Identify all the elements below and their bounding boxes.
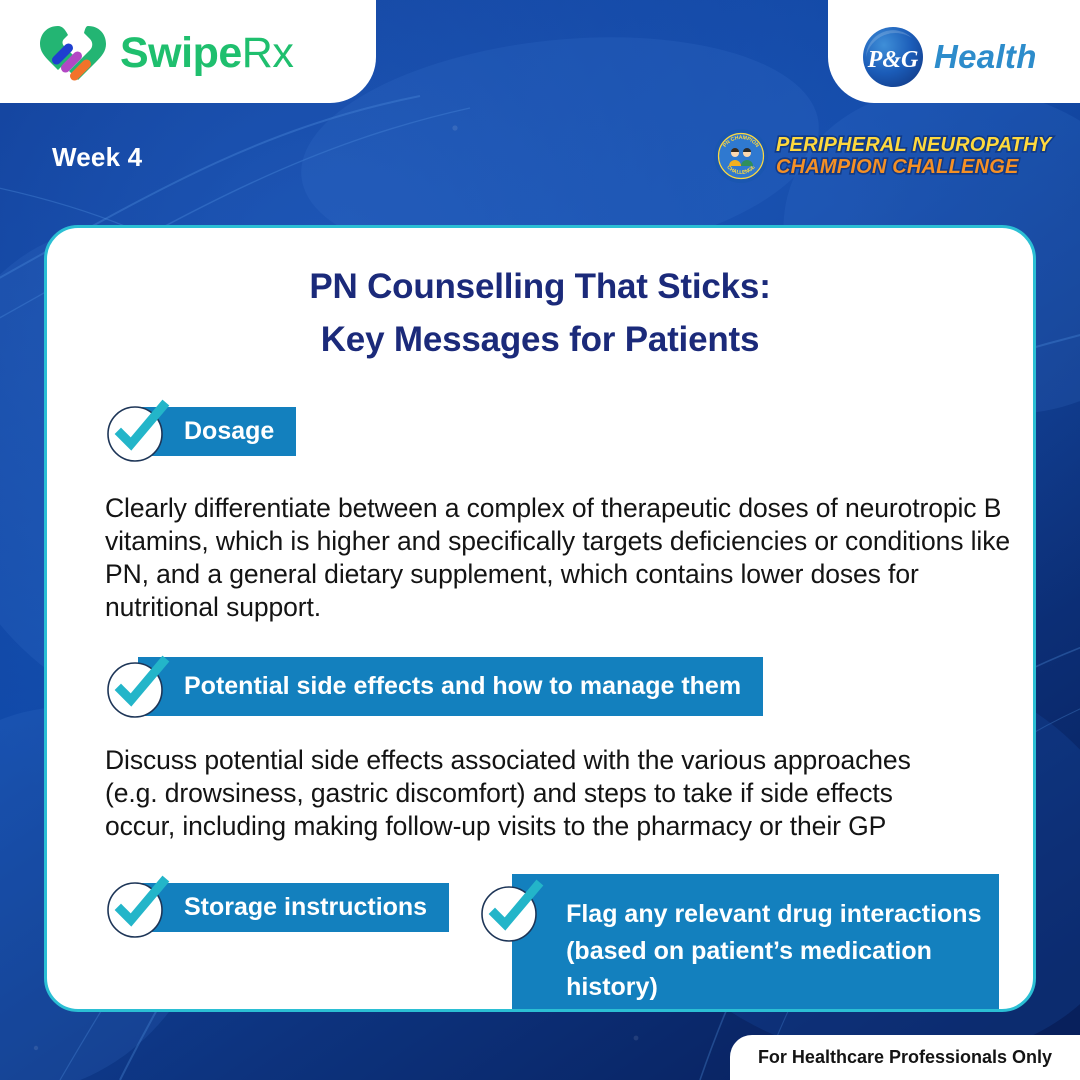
badge-side-effects-bar: Potential side effects and how to manage…	[138, 657, 763, 716]
page-title-line-2: Key Messages for Patients	[47, 313, 1033, 366]
badge-side-effects: Potential side effects and how to manage…	[105, 654, 1033, 720]
pg-circle-icon: P&G	[862, 26, 924, 88]
pg-health-logo[interactable]: P&G Health	[862, 26, 1037, 88]
header: SwipeRx P&G Health	[0, 0, 1080, 103]
pn-champion-challenge-badge-icon: PN CHAMPION CHALLENGE	[713, 128, 769, 184]
challenge-lockup: PN CHAMPION CHALLENGE PERIPHERAL NEUROPA…	[713, 128, 1051, 184]
swiperx-name-part1: Swipe	[120, 29, 242, 77]
check-circle-icon	[479, 878, 545, 944]
paragraph-side-effects: Discuss potential side effects associate…	[105, 744, 935, 843]
page-title: PN Counselling That Sticks: Key Messages…	[47, 260, 1033, 366]
badge-storage-bar: Storage instructions	[138, 883, 449, 932]
swiperx-wordmark: SwipeRx	[120, 32, 293, 75]
content-card: PN Counselling That Sticks: Key Messages…	[44, 225, 1036, 1012]
check-circle-icon	[105, 654, 171, 720]
check-circle-icon	[105, 874, 171, 940]
challenge-line-1: PERIPHERAL NEUROPATHY	[776, 135, 1051, 155]
swiperx-name-part2: Rx	[242, 29, 294, 77]
footer-disclaimer-text: For Healthcare Professionals Only	[758, 1047, 1052, 1068]
swiperx-logo[interactable]: SwipeRx	[38, 22, 293, 84]
paragraph-dosage: Clearly differentiate between a complex …	[105, 492, 1010, 623]
footer-disclaimer: For Healthcare Professionals Only	[730, 1035, 1080, 1080]
bottom-badge-row: Storage instructions Flag any relevant d…	[105, 874, 1033, 1012]
badge-dosage: Dosage	[105, 398, 1033, 464]
badge-side-effects-label: Potential side effects and how to manage…	[138, 672, 763, 701]
badge-drug-interactions-bar: Flag any relevant drug interactions (bas…	[512, 874, 999, 1012]
page-title-line-1: PN Counselling That Sticks:	[47, 260, 1033, 313]
challenge-line-2: CHAMPION CHALLENGE	[776, 157, 1051, 177]
badge-drug-interactions: Flag any relevant drug interactions (bas…	[479, 874, 999, 1012]
week-label: Week 4	[52, 142, 142, 173]
swiperx-heart-icon	[38, 22, 108, 84]
svg-text:P&G: P&G	[867, 47, 919, 73]
badge-drug-interactions-label: Flag any relevant drug interactions (bas…	[512, 896, 999, 1005]
badge-storage: Storage instructions	[105, 874, 449, 940]
check-circle-icon	[105, 398, 171, 464]
pg-health-wordmark: Health	[934, 38, 1037, 76]
challenge-wordmark: PERIPHERAL NEUROPATHY CHAMPION CHALLENGE	[776, 135, 1051, 177]
badge-storage-label: Storage instructions	[138, 893, 449, 922]
